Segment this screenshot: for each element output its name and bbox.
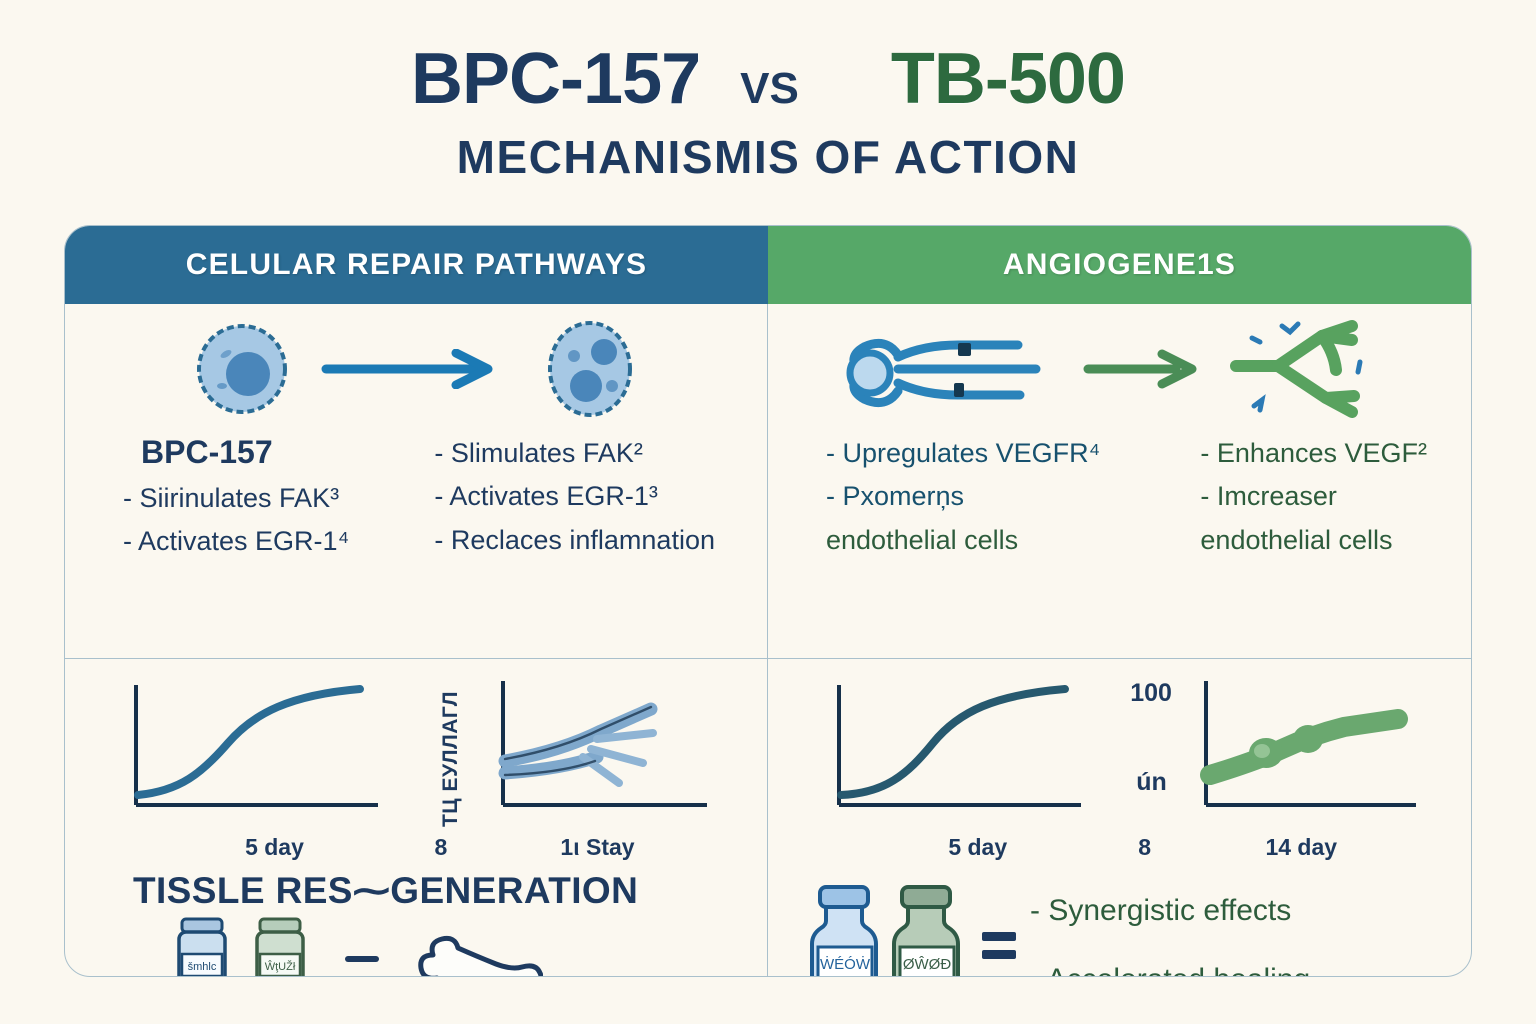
tissue-vial-row: šmhlc ŴţUŽł: [75, 912, 757, 977]
cellular-bullet-right-1: - Slimulates FAK²: [434, 434, 715, 472]
angio-bullet-right-1: - Enhances VEGF²: [1200, 434, 1427, 472]
cellular-bullet-right-3: - Reclaces inflamnation: [434, 521, 715, 559]
arrow-right-icon: [316, 349, 516, 389]
cell-icon-after: [530, 314, 650, 424]
chart-angio-vessel: 100 ún 8 14 day: [1136, 677, 1426, 855]
quadrant-tissue-regeneration: 5 day: [65, 659, 768, 977]
vessel-chart-svg: [433, 677, 723, 827]
synergy-vial-green-label: ØŴØÐ: [903, 956, 951, 973]
vial-icon-blue-large: ẆÉÓẆ: [804, 883, 886, 977]
chart-angio-vessel-ybot: ún: [1136, 768, 1167, 797]
bone-icon: [413, 916, 543, 977]
angio-bullet-right-3: endothelial cells: [1200, 521, 1427, 559]
panel-header-row: CELULAR REPAIR PATHWAYS ANGIOGENE1S: [65, 226, 1471, 304]
title-bpc157: BPC-157: [411, 38, 700, 120]
equals-icon: [982, 932, 1016, 959]
cellular-bullets-right: - Slimulates FAK² - Activates EGR-1³ - R…: [434, 434, 723, 561]
chart-angio-growth-xlabel: 5 day: [813, 834, 1103, 861]
angio-bullet-right-2: - Imcreaser: [1200, 477, 1427, 515]
title-row: BPC-157 VS TB-500: [0, 38, 1536, 120]
page-title-block: BPC-157 VS TB-500 MECHANISMIS OF ACTION: [0, 38, 1536, 184]
cellular-bullet-left-2: - Activates EGR-1⁴: [123, 522, 349, 560]
vial-icon-green-small: ŴţUŽł: [249, 916, 311, 977]
vial-green-label-text: ŴţUŽł: [265, 960, 296, 973]
synergy-vial-blue-label: ẆÉÓẆ: [820, 955, 871, 973]
synergy-bullet-1: - Synergistic effects: [1030, 890, 1310, 933]
header-cellular-repair: CELULAR REPAIR PATHWAYS: [65, 226, 768, 304]
quadrant-cellular-repair: BPC-157 - Siirinulates FAK³ - Activates …: [65, 304, 768, 659]
vial-icon-green-large: ØŴØÐ: [886, 883, 968, 977]
chart-cellular-vessel-xlabel: 1ι Stay: [433, 834, 723, 861]
chart-cellular-growth: 5 day: [110, 677, 400, 855]
blood-vessel-icon-before: [836, 317, 1066, 422]
cellular-charts: 5 day: [75, 665, 757, 855]
angio-growth-curve-svg: [813, 677, 1103, 827]
angio-bullet-left-1: - Upregulates VEGFR⁴: [826, 434, 1100, 472]
cellular-bullet-right-2: - Activates EGR-1³: [434, 477, 715, 515]
header-angiogenesis: ANGIOGENE1S: [768, 226, 1471, 304]
chart-angio-vessel-ytop: 100: [1130, 679, 1172, 708]
panel-body-grid: BPC-157 - Siirinulates FAK³ - Activates …: [65, 304, 1471, 977]
synergy-row: ẆÉÓẆ ØŴØÐ - Synergistic effects - Accele…: [778, 855, 1461, 977]
vial-icon-blue-small: šmhlc: [171, 916, 233, 977]
title-tb500: TB-500: [891, 38, 1125, 120]
comparison-card: CELULAR REPAIR PATHWAYS ANGIOGENE1S: [64, 225, 1472, 977]
vial-blue-label-text: šmhlc: [188, 961, 217, 973]
arrow-right-icon-green: [1080, 349, 1210, 389]
synergy-bullets: - Synergistic effects - Accelerated heal…: [1030, 890, 1310, 977]
chart-angio-growth: 5 day: [813, 677, 1103, 855]
angio-bullet-left-2: - Pxomerņs: [826, 477, 1100, 515]
angiogenesis-bullets-right: - Enhances VEGF² - Imcreaser endothelial…: [1200, 434, 1427, 559]
cell-transform-icons: [75, 310, 757, 428]
cellular-bullets-left: BPC-157 - Siirinulates FAK³ - Activates …: [123, 434, 349, 561]
cell-icon-before: [182, 314, 302, 424]
chart-cellular-vessel: ТЦ ЕУЛЛАГЛ 8 1ι Stay: [433, 677, 723, 855]
connector-dash-icon: [345, 956, 379, 962]
vessel-transform-icons: [778, 310, 1461, 428]
page-subtitle: MECHANISMIS OF ACTION: [0, 130, 1536, 184]
quadrant-synergy: 5 day 100 ún 8 14 day: [768, 659, 1471, 977]
synergy-bullet-2: - Accelerated healing: [1030, 959, 1310, 978]
chart-cellular-vessel-ylabel: ТЦ ЕУЛЛАГЛ: [439, 691, 463, 827]
quadrant-angiogenesis: - Upregulates VEGFR⁴ - Pxomerņs endothel…: [768, 304, 1471, 659]
angiogenesis-bullet-columns: - Upregulates VEGFR⁴ - Pxomerņs endothel…: [778, 428, 1461, 559]
cellular-bullet-left-1: - Siirinulates FAK³: [123, 479, 349, 517]
cellular-lead-label: BPC-157: [141, 434, 349, 471]
angio-bullet-left-3: endothelial cells: [826, 521, 1100, 559]
vessel-branching-icon-after: [1224, 314, 1404, 424]
tissue-regeneration-caption: TISSLE RES⁓GENERATION: [75, 855, 757, 912]
title-vs: VS: [726, 64, 813, 114]
angiogenesis-charts: 5 day 100 ún 8 14 day: [778, 665, 1461, 855]
chart-cellular-growth-xlabel: 5 day: [110, 834, 400, 861]
chart-angio-vessel-xlabel: 14 day: [1136, 834, 1426, 861]
growth-curve-svg: [110, 677, 400, 827]
angio-vessel-chart-svg: [1136, 677, 1426, 827]
angiogenesis-bullets-left: - Upregulates VEGFR⁴ - Pxomerņs endothel…: [826, 434, 1100, 559]
cellular-bullet-columns: BPC-157 - Siirinulates FAK³ - Activates …: [75, 428, 757, 561]
